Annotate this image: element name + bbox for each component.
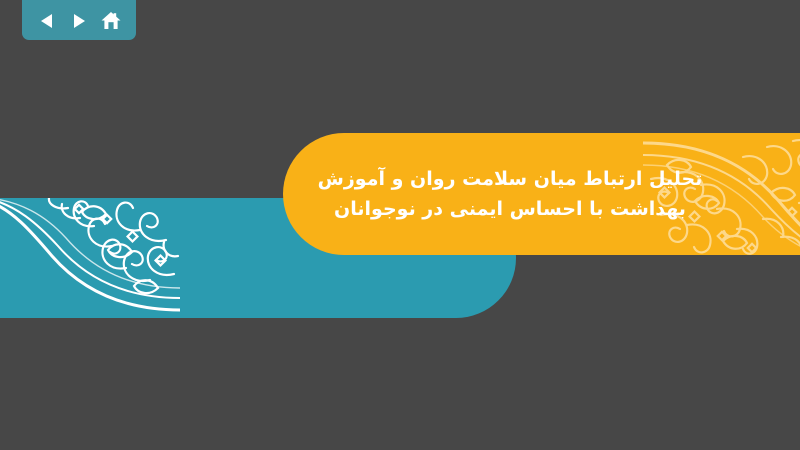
slide-title: تحلیل ارتباط میان سلامت روان و آموزش بهد… xyxy=(300,133,720,255)
triangle-right-icon xyxy=(69,11,89,31)
teal-arabesque-ornament-icon xyxy=(0,198,180,318)
previous-slide-button[interactable] xyxy=(32,7,62,35)
triangle-left-icon xyxy=(37,11,57,31)
title-line-2: بهداشت با احساس ایمنی در نوجوانان xyxy=(334,194,686,224)
presentation-slide: تحلیل ارتباط میان سلامت روان و آموزش بهد… xyxy=(0,0,800,450)
slide-navigation-bar[interactable] xyxy=(22,0,136,40)
title-line-1: تحلیل ارتباط میان سلامت روان و آموزش xyxy=(318,164,703,194)
home-slide-button[interactable] xyxy=(96,7,126,35)
home-icon xyxy=(100,10,122,32)
next-slide-button[interactable] xyxy=(64,7,94,35)
